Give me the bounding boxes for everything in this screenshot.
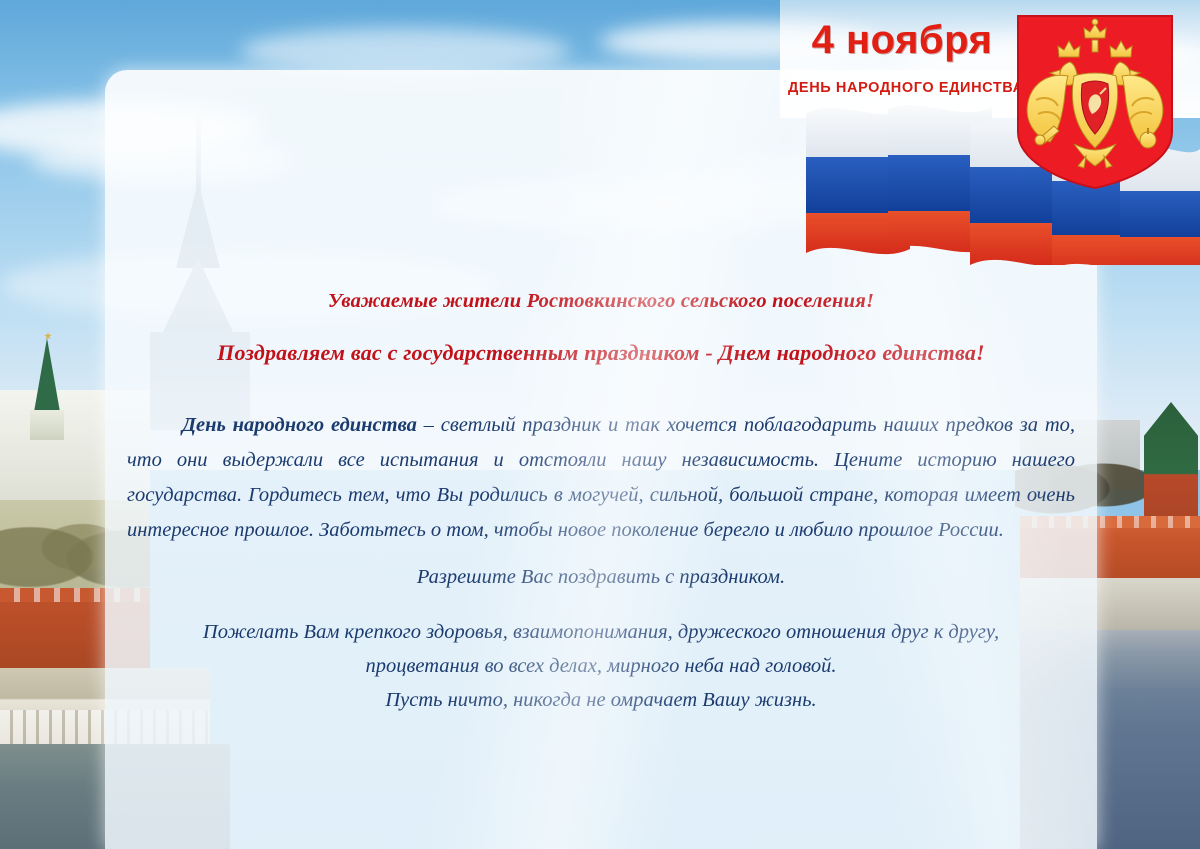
greeting-line-1: Уважаемые жители Ростовкинского сельског…: [105, 290, 1097, 313]
coat-of-arms-icon: [1012, 14, 1178, 190]
green-roof-tower: [1144, 402, 1198, 532]
greeting-line-2: Поздравляем вас с государственным праздн…: [105, 340, 1097, 366]
tower-body: [30, 410, 64, 440]
closing-line-3: процветания во всех делах, мирного неба …: [105, 649, 1097, 683]
closing-line-2: Пожелать Вам крепкого здоровья, взаимопо…: [105, 615, 1097, 649]
body-paragraph: День народного единства – светлый праздн…: [127, 408, 1075, 548]
holiday-date-title: 4 ноября: [788, 18, 1016, 63]
closing-line-4: Пусть ничто, никогда не омрачает Вашу жи…: [105, 683, 1097, 717]
cloud: [240, 28, 570, 74]
body-lead-in: День народного единства: [182, 414, 417, 436]
national-unity-day-poster: Уважаемые жители Ростовкинского сельског…: [0, 0, 1200, 849]
closing-line-1: Разрешите Вас поздравить с праздником.: [105, 560, 1097, 594]
holiday-subtitle: ДЕНЬ НАРОДНОГО ЕДИНСТВА: [788, 80, 1016, 96]
closing-block: Пожелать Вам крепкого здоровья, взаимопо…: [105, 615, 1097, 717]
holiday-header-badge: 4 ноября ДЕНЬ НАРОДНОГО ЕДИНСТВА: [780, 0, 1200, 270]
green-tower-spire: [34, 338, 60, 412]
